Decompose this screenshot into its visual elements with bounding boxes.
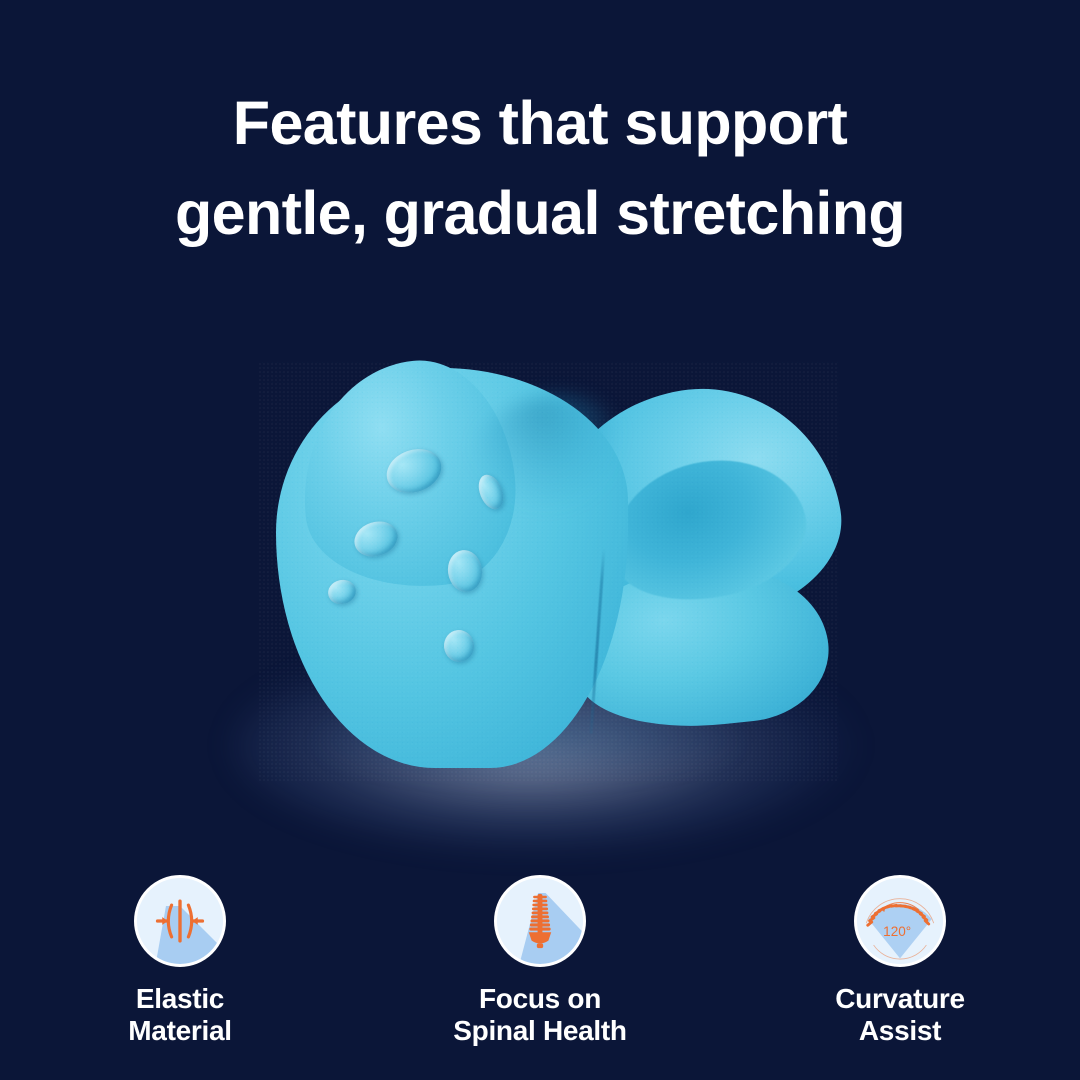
product-image	[258, 362, 838, 782]
curvature-angle-icon[interactable]: 120°	[854, 875, 946, 967]
spine-column-icon[interactable]	[494, 875, 586, 967]
curvature-angle-value: 120°	[883, 924, 911, 939]
feature-item-elastic-material[interactable]: Elastic Material	[30, 875, 330, 1046]
headline-line-2: gentle, gradual stretching	[0, 168, 1080, 258]
product-stage	[0, 300, 1080, 840]
headline-line-1: Features that support	[0, 78, 1080, 168]
page-title: Features that support gentle, gradual st…	[0, 78, 1080, 259]
feature-label-curvature-assist: Curvature Assist	[835, 983, 965, 1046]
elastic-compression-icon[interactable]	[134, 875, 226, 967]
feature-item-curvature-assist[interactable]: 120° Curvature Assist	[750, 875, 1050, 1046]
product-feature-poster: Features that support gentle, gradual st…	[0, 0, 1080, 1080]
feature-label-elastic-material: Elastic Material	[128, 983, 231, 1046]
feature-item-spinal-health[interactable]: Focus on Spinal Health	[390, 875, 690, 1046]
feature-label-spinal-health: Focus on Spinal Health	[453, 983, 626, 1046]
feature-row: Elastic Material	[0, 875, 1080, 1046]
